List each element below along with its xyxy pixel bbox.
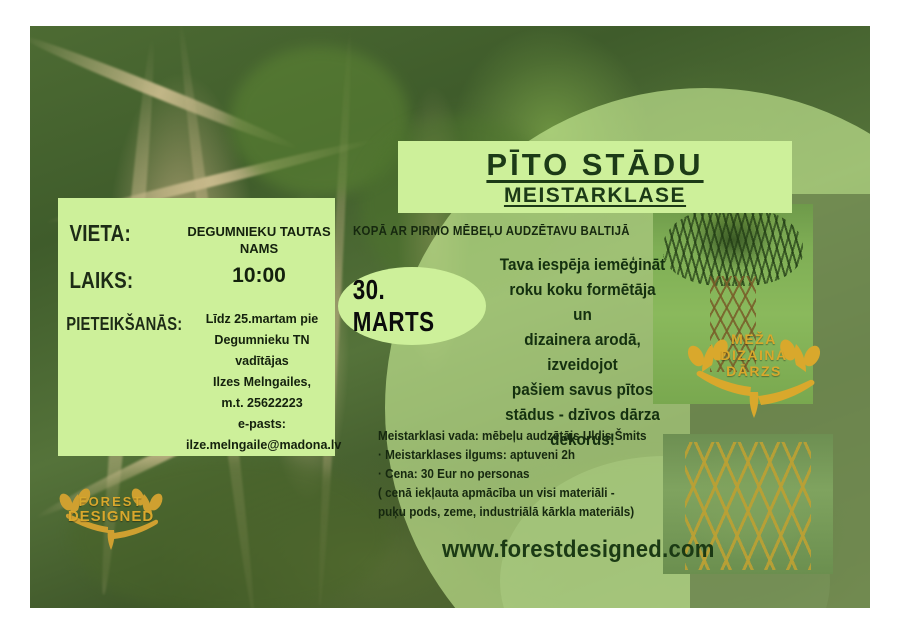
- info-value-reg-line5: e-pasts:: [186, 414, 338, 435]
- details-line: puķu pods, zeme, industriālā kārkla mate…: [378, 502, 657, 521]
- logo-mdd-line1: MEŽA: [680, 332, 828, 347]
- lead-line: dizainera arodā, izveidojot: [499, 327, 666, 377]
- info-label-laiks: LAIKS:: [58, 267, 161, 294]
- logo-mdd-line2: DIZAINA: [680, 348, 828, 363]
- lead-line: stādus - dzīvos dārza: [499, 402, 666, 427]
- lead-line: roku koku formētāja un: [499, 277, 666, 327]
- tree-canopy: [663, 206, 803, 286]
- date-badge: 30. MARTS: [338, 267, 486, 345]
- date-badge-label: 30. MARTS: [353, 274, 471, 338]
- lead-line: pašiem savus pītos: [499, 377, 666, 402]
- page-subtitle: MEISTARKLASE: [398, 184, 792, 208]
- logo-fd-line2: DESIGNED: [52, 509, 170, 524]
- poster-canvas: MEŽA DIZAINA DĀRZS FOREST DESIGNED PĪTO …: [30, 26, 870, 608]
- info-value-reg-line2: Degumnieku TN vadītājas: [186, 330, 338, 372]
- info-value-laiks: 10:00: [184, 264, 334, 288]
- details-line: · Meistarklases ilgums: aptuveni 2h: [378, 445, 657, 464]
- info-label-vieta: VIETA:: [58, 220, 161, 247]
- info-value-reg-email[interactable]: ilze.melngaile@madona.lv: [186, 435, 338, 456]
- logo-meza-dizaina-darzs: MEŽA DIZAINA DĀRZS: [680, 326, 828, 418]
- details-list: Meistarklasi vada: mēbeļu audzētājs Uldi…: [378, 426, 688, 521]
- lead-line: Tava iespēja iemēģināt: [499, 252, 666, 277]
- info-label-pieteiksanas: PIETEIKŠANĀS:: [58, 312, 163, 335]
- website-url[interactable]: www.forestdesigned.com: [442, 536, 715, 564]
- info-panel: VIETA: DEGUMNIEKU TAUTAS NAMS LAIKS: 10:…: [58, 198, 335, 456]
- info-value-reg-line4: m.t. 25622223: [186, 393, 338, 414]
- info-value-reg-line3: Ilzes Melngailes,: [186, 372, 338, 393]
- details-line: · Cena: 30 Eur no personas: [378, 464, 657, 483]
- info-row-vieta: VIETA: DEGUMNIEKU TAUTAS NAMS: [58, 220, 335, 257]
- partner-tagline: KOPĀ AR PIRMO MĒBEĻU AUDZĒTAVU BALTIJĀ: [353, 223, 630, 238]
- details-line: Meistarklasi vada: mēbeļu audzētājs Uldi…: [378, 426, 657, 445]
- lead-paragraph: Tava iespēja iemēģināt roku koku formētā…: [490, 252, 675, 452]
- logo-fd-line1: FOREST: [52, 494, 170, 509]
- info-row-laiks: LAIKS: 10:00: [58, 267, 335, 294]
- info-value-vieta-line2: NAMS: [184, 240, 334, 257]
- info-value-reg-line1: Līdz 25.martam pie: [186, 309, 338, 330]
- logo-mdd-line3: DĀRZS: [680, 364, 828, 379]
- info-value-vieta-line1: DEGUMNIEKU TAUTAS: [184, 223, 334, 240]
- details-line: ( cenā iekļauta apmācība un visi materiā…: [378, 483, 657, 502]
- page-title: PĪTO STĀDU: [398, 147, 792, 183]
- info-row-pieteiksanas: PIETEIKŠANĀS: Līdz 25.martam pie Degumni…: [58, 312, 335, 456]
- title-panel: PĪTO STĀDU MEISTARKLASE: [398, 141, 792, 213]
- logo-forest-designed: FOREST DESIGNED: [52, 478, 170, 550]
